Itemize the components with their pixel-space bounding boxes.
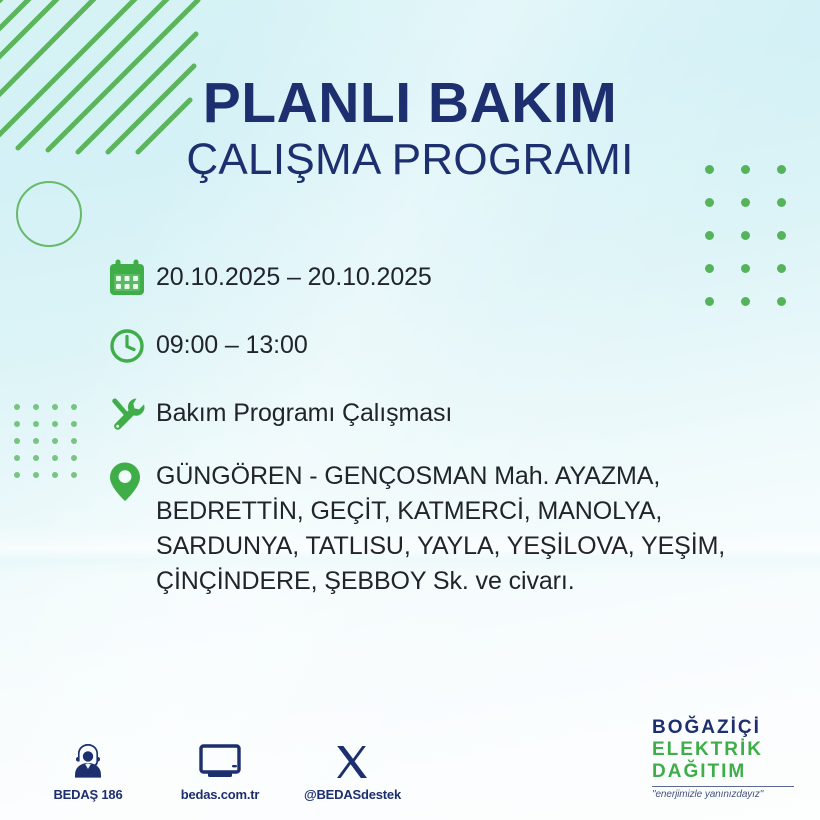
calendar-icon xyxy=(108,255,156,301)
clock-icon xyxy=(108,323,156,369)
brand-tagline: "enerjimizle yanınızdayız" xyxy=(652,789,798,800)
detail-row-date: 20.10.2025 – 20.10.2025 xyxy=(108,255,790,301)
detail-time-text: 09:00 – 13:00 xyxy=(156,323,308,358)
detail-date-text: 20.10.2025 – 20.10.2025 xyxy=(156,255,432,290)
x-twitter-icon xyxy=(304,740,400,780)
headset-agent-icon xyxy=(40,740,136,780)
page-subtitle: ÇALIŞMA PROGRAMI xyxy=(0,135,820,184)
brand-divider xyxy=(652,786,794,787)
contact-social-label: @BEDASdestek xyxy=(304,787,400,802)
contact-phone-label: BEDAŞ 186 xyxy=(40,787,136,802)
detail-row-worktype: Bakım Programı Çalışması xyxy=(108,391,790,437)
detail-worktype-text: Bakım Programı Çalışması xyxy=(156,391,452,426)
footer-contacts: BEDAŞ 186 bedas.com.tr @BEDASdestek xyxy=(40,740,400,802)
map-pin-icon xyxy=(108,459,156,507)
dot-grid-left-decoration xyxy=(14,404,90,489)
circle-outline-decoration xyxy=(16,181,82,247)
brand-line-3: DAĞITIM xyxy=(652,761,798,783)
contact-website[interactable]: bedas.com.tr xyxy=(172,740,268,802)
contact-website-label: bedas.com.tr xyxy=(172,787,268,802)
detail-row-time: 09:00 – 13:00 xyxy=(108,323,790,369)
detail-row-location: GÜNGÖREN - GENÇOSMAN Mah. AYAZMA, BEDRET… xyxy=(108,459,790,599)
detail-location-text: GÜNGÖREN - GENÇOSMAN Mah. AYAZMA, BEDRET… xyxy=(156,459,790,599)
tools-icon xyxy=(108,391,156,437)
brand-line-2: ELEKTRİK xyxy=(652,739,798,761)
page-title: PLANLI BAKIM xyxy=(0,74,820,133)
brand-logo: BOĞAZİÇİ ELEKTRİK DAĞITIM "enerjimizle y… xyxy=(652,717,798,800)
planned-maintenance-poster: PLANLI BAKIM ÇALIŞMA PROGRAMI xyxy=(0,0,820,820)
monitor-icon xyxy=(172,740,268,780)
contact-phone[interactable]: BEDAŞ 186 xyxy=(40,740,136,802)
contact-social[interactable]: @BEDASdestek xyxy=(304,740,400,802)
brand-line-1: BOĞAZİÇİ xyxy=(652,717,798,739)
maintenance-details: 20.10.2025 – 20.10.2025 09:00 – 13:00 xyxy=(108,255,790,599)
poster-header: PLANLI BAKIM ÇALIŞMA PROGRAMI xyxy=(0,74,820,185)
